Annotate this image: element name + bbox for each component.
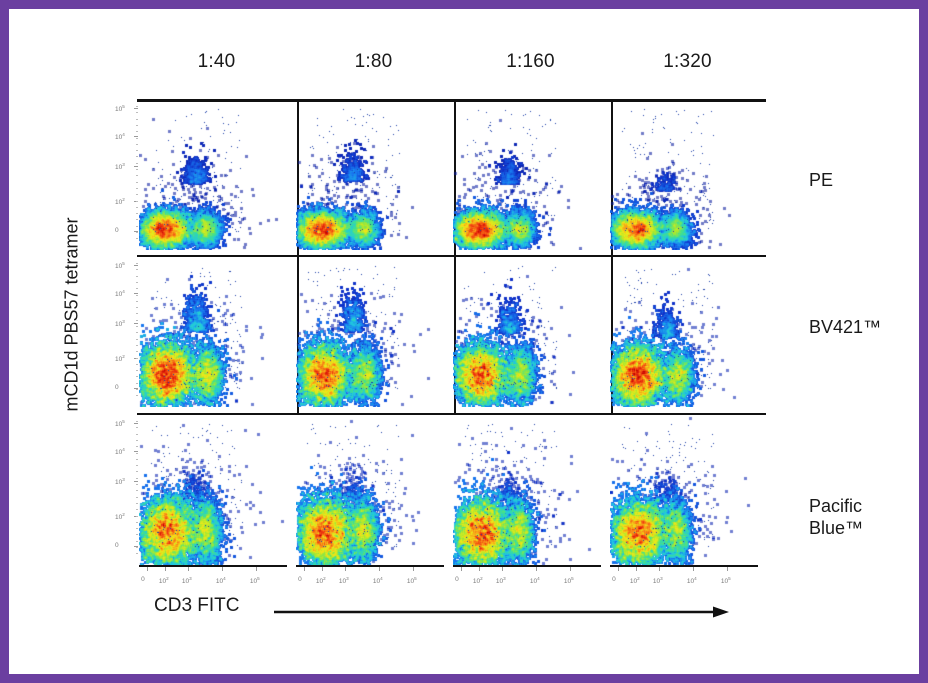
x-tick-mark — [379, 567, 380, 571]
y-minor-tick-mark — [136, 307, 138, 308]
y-minor-tick-mark — [136, 446, 138, 447]
y-minor-tick-mark — [136, 131, 138, 132]
y-tick-mark — [134, 166, 138, 167]
y-minor-tick-mark — [136, 516, 138, 517]
y-minor-tick-mark — [136, 313, 138, 314]
x-tick-mark — [618, 567, 619, 571]
x-tick-label: 103 — [496, 576, 506, 585]
density-plot-2-1 — [139, 257, 287, 407]
panel-baseline — [453, 407, 601, 409]
x-tick-mark — [256, 567, 257, 571]
y-tick-label: 0 — [115, 227, 119, 234]
density-plot-canvas — [139, 415, 287, 565]
y-minor-tick-mark — [136, 188, 138, 189]
y-minor-tick-mark — [136, 238, 138, 239]
x-tick-label: 0 — [141, 576, 145, 583]
y-minor-tick-mark — [136, 232, 138, 233]
density-plot-canvas — [610, 257, 758, 407]
x-tick-mark — [304, 567, 305, 571]
x-tick-mark — [413, 567, 414, 571]
y-minor-tick-mark — [136, 484, 138, 485]
x-tick-mark — [659, 567, 660, 571]
density-plot-canvas — [610, 415, 758, 565]
y-tick-mark — [134, 108, 138, 109]
y-minor-tick-mark — [136, 490, 138, 491]
y-minor-tick-mark — [136, 332, 138, 333]
panel-baseline — [296, 565, 444, 567]
y-tick-mark — [134, 265, 138, 266]
x-tick-label: 102 — [316, 576, 326, 585]
row-label-bv421-text: BV421™ — [809, 317, 881, 337]
panel-baseline — [610, 407, 758, 409]
density-plot-canvas — [139, 257, 287, 407]
density-plot-canvas — [296, 257, 444, 407]
x-tick-label: 103 — [653, 576, 663, 585]
x-tick-mark — [727, 567, 728, 571]
y-minor-tick-mark — [136, 509, 138, 510]
y-tick-label: 104 — [115, 289, 125, 298]
row-label-bv421: BV421™ — [809, 316, 881, 339]
y-minor-tick-mark — [136, 163, 138, 164]
y-tick-label: 0 — [115, 384, 119, 391]
density-plot-canvas — [296, 415, 444, 565]
x-tick-mark — [345, 567, 346, 571]
x-axis-arrow-icon — [274, 605, 729, 619]
y-tick-label: 105 — [115, 261, 125, 270]
y-minor-tick-mark — [136, 376, 138, 377]
x-tick-label: 0 — [612, 576, 616, 583]
y-minor-tick-mark — [136, 125, 138, 126]
y-minor-tick-mark — [136, 383, 138, 384]
x-tick-label: 105 — [564, 576, 574, 585]
figure-frame: 1:40 1:80 1:160 1:320 mCD1d PBS57 tetram… — [0, 0, 928, 683]
y-minor-tick-mark — [136, 156, 138, 157]
x-tick-mark — [536, 567, 537, 571]
y-minor-tick-mark — [136, 427, 138, 428]
row-label-pe: PE — [809, 169, 833, 192]
y-minor-tick-mark — [136, 150, 138, 151]
y-minor-tick-mark — [136, 169, 138, 170]
x-tick-mark — [479, 567, 480, 571]
y-tick-label: 102 — [115, 354, 125, 363]
y-tick-mark — [134, 323, 138, 324]
y-minor-tick-mark — [136, 471, 138, 472]
x-tick-label: 0 — [455, 576, 459, 583]
x-tick-mark — [693, 567, 694, 571]
y-minor-tick-mark — [136, 182, 138, 183]
density-plot-1-1 — [139, 100, 287, 250]
x-tick-label: 102 — [159, 576, 169, 585]
x-tick-mark — [636, 567, 637, 571]
y-tick-label: 0 — [115, 542, 119, 549]
panel-baseline — [139, 250, 287, 252]
panel-baseline — [610, 565, 758, 567]
row-label-pacific-blue-text: Pacific Blue™ — [809, 496, 863, 539]
y-minor-tick-mark — [136, 144, 138, 145]
y-minor-tick-mark — [136, 351, 138, 352]
x-tick-label: 105 — [407, 576, 417, 585]
y-tick-label: 105 — [115, 419, 125, 428]
row-label-pacific-blue: Pacific Blue™ — [809, 472, 863, 540]
y-minor-tick-mark — [136, 434, 138, 435]
y-minor-tick-mark — [136, 201, 138, 202]
density-plot-3-4 — [610, 415, 758, 565]
y-minor-tick-mark — [136, 503, 138, 504]
y-tick-label: 103 — [115, 319, 125, 328]
y-minor-tick-mark — [136, 370, 138, 371]
y-minor-tick-mark — [136, 194, 138, 195]
y-minor-tick-mark — [136, 326, 138, 327]
y-minor-tick-mark — [136, 320, 138, 321]
y-minor-tick-mark — [136, 534, 138, 535]
x-tick-label: 105 — [721, 576, 731, 585]
y-axis-title: mCD1d PBS57 tetramer — [62, 200, 83, 430]
y-tick-label: 105 — [115, 104, 125, 113]
y-minor-tick-mark — [136, 547, 138, 548]
panel-baseline — [139, 407, 287, 409]
y-minor-tick-mark — [136, 175, 138, 176]
panel-baseline — [453, 565, 601, 567]
y-minor-tick-mark — [136, 282, 138, 283]
x-tick-mark — [165, 567, 166, 571]
x-axis-title: CD3 FITC — [154, 595, 240, 617]
y-minor-tick-mark — [136, 269, 138, 270]
x-tick-mark — [502, 567, 503, 571]
x-tick-mark — [222, 567, 223, 571]
y-minor-tick-mark — [136, 138, 138, 139]
x-tick-mark — [188, 567, 189, 571]
x-tick-mark — [570, 567, 571, 571]
density-plot-2-4 — [610, 257, 758, 407]
panel-baseline — [610, 250, 758, 252]
y-minor-tick-mark — [136, 459, 138, 460]
y-tick-mark — [134, 423, 138, 424]
x-tick-label: 103 — [182, 576, 192, 585]
density-plot-canvas — [296, 100, 444, 250]
y-minor-tick-mark — [136, 226, 138, 227]
y-minor-tick-mark — [136, 263, 138, 264]
y-minor-tick-mark — [136, 276, 138, 277]
y-minor-tick-mark — [136, 497, 138, 498]
y-minor-tick-mark — [136, 301, 138, 302]
x-tick-label: 104 — [373, 576, 383, 585]
density-plot-canvas — [139, 100, 287, 250]
y-minor-tick-mark — [136, 528, 138, 529]
x-tick-mark — [461, 567, 462, 571]
y-minor-tick-mark — [136, 389, 138, 390]
y-minor-tick-mark — [136, 553, 138, 554]
density-plot-3-2 — [296, 415, 444, 565]
y-minor-tick-mark — [136, 219, 138, 220]
y-tick-label: 104 — [115, 447, 125, 456]
density-plot-2-2 — [296, 257, 444, 407]
y-minor-tick-mark — [136, 395, 138, 396]
density-plot-1-4 — [610, 100, 758, 250]
y-tick-mark — [134, 481, 138, 482]
density-plot-canvas — [453, 100, 601, 250]
density-plot-canvas — [453, 257, 601, 407]
y-minor-tick-mark — [136, 421, 138, 422]
density-plot-3-3 — [453, 415, 601, 565]
column-header-1: 1:40 — [139, 51, 294, 73]
x-tick-label: 102 — [473, 576, 483, 585]
x-tick-label: 102 — [630, 576, 640, 585]
y-tick-label: 102 — [115, 197, 125, 206]
y-minor-tick-mark — [136, 364, 138, 365]
y-minor-tick-mark — [136, 112, 138, 113]
panel-baseline — [296, 250, 444, 252]
y-minor-tick-mark — [136, 288, 138, 289]
row-label-pe-text: PE — [809, 170, 833, 190]
density-plot-1-2 — [296, 100, 444, 250]
density-plot-1-3 — [453, 100, 601, 250]
x-tick-label: 103 — [339, 576, 349, 585]
x-tick-label: 104 — [216, 576, 226, 585]
x-tick-label: 0 — [298, 576, 302, 583]
density-plot-3-1 — [139, 415, 287, 565]
y-tick-label: 103 — [115, 162, 125, 171]
panel-baseline — [139, 565, 287, 567]
y-minor-tick-mark — [136, 522, 138, 523]
column-header-3: 1:160 — [453, 51, 608, 73]
y-tick-label: 102 — [115, 512, 125, 521]
y-minor-tick-mark — [136, 213, 138, 214]
y-minor-tick-mark — [136, 440, 138, 441]
y-minor-tick-mark — [136, 358, 138, 359]
y-minor-tick-mark — [136, 453, 138, 454]
y-minor-tick-mark — [136, 345, 138, 346]
density-plot-canvas — [453, 415, 601, 565]
x-tick-mark — [147, 567, 148, 571]
x-tick-label: 104 — [530, 576, 540, 585]
x-tick-label: 104 — [687, 576, 697, 585]
density-plot-canvas — [610, 100, 758, 250]
column-header-2: 1:80 — [296, 51, 451, 73]
x-tick-label: 105 — [250, 576, 260, 585]
panel-baseline — [453, 250, 601, 252]
y-minor-tick-mark — [136, 106, 138, 107]
y-minor-tick-mark — [136, 339, 138, 340]
y-minor-tick-mark — [136, 119, 138, 120]
density-plot-2-3 — [453, 257, 601, 407]
x-tick-mark — [322, 567, 323, 571]
y-tick-label: 103 — [115, 477, 125, 486]
column-header-4: 1:320 — [610, 51, 765, 73]
figure-canvas-area: 1:40 1:80 1:160 1:320 mCD1d PBS57 tetram… — [9, 9, 919, 674]
y-minor-tick-mark — [136, 541, 138, 542]
panel-baseline — [296, 407, 444, 409]
y-minor-tick-mark — [136, 295, 138, 296]
y-minor-tick-mark — [136, 207, 138, 208]
y-minor-tick-mark — [136, 478, 138, 479]
y-minor-tick-mark — [136, 465, 138, 466]
y-tick-label: 104 — [115, 132, 125, 141]
